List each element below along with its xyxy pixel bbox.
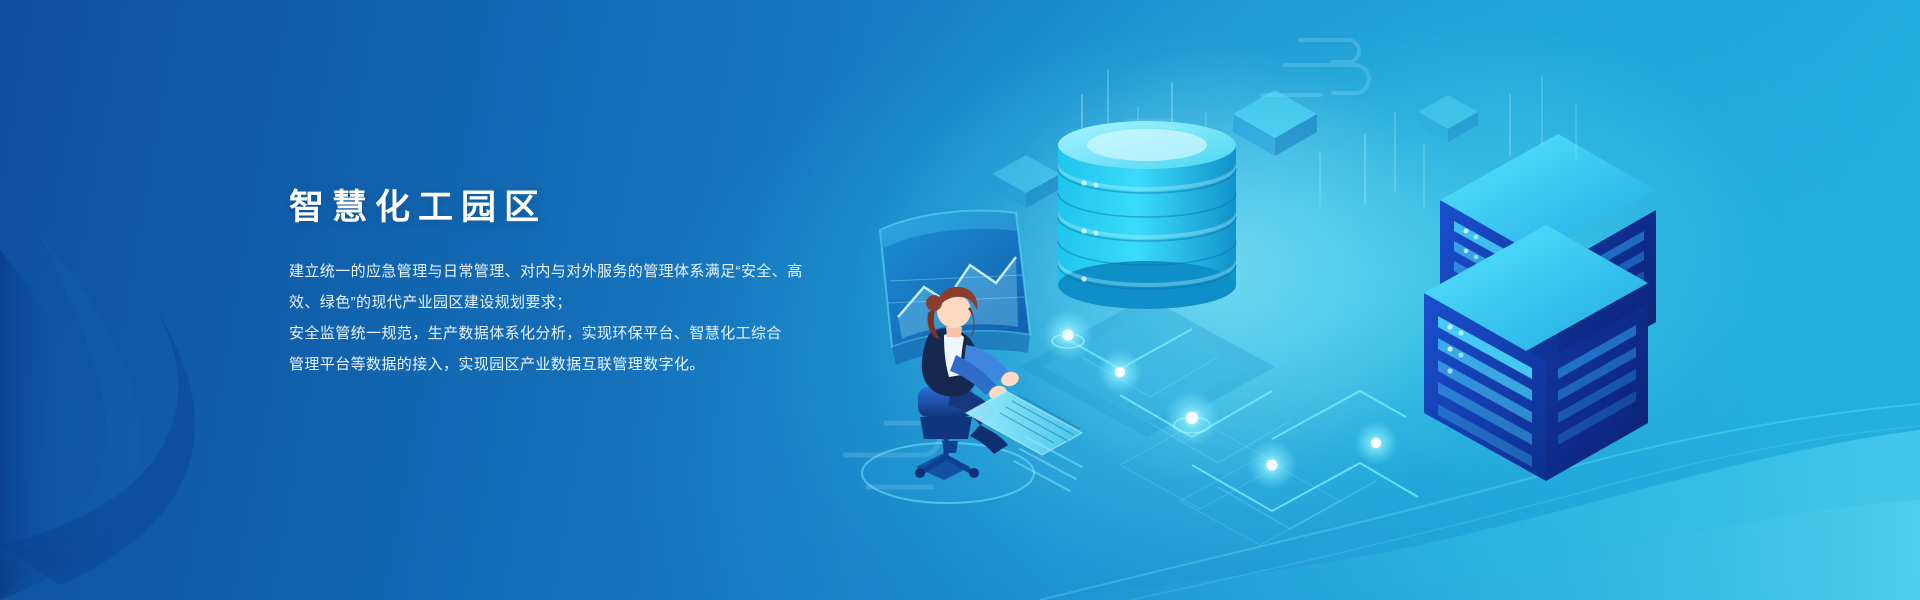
glow-node: [1097, 349, 1143, 395]
illustration-svg: [820, 35, 1890, 595]
glow-node: [1042, 309, 1094, 361]
wave-left-dark: [0, 250, 85, 600]
floating-cube: [1418, 95, 1478, 142]
glow-node: [1164, 390, 1220, 446]
hero-banner: 智慧化工园区 建立统一的应急管理与日常管理、对内与对外服务的管理体系满足“安全、…: [0, 0, 1920, 600]
wave-left-accent: [0, 300, 195, 585]
glow-node: [1247, 440, 1297, 490]
smart-park-illustration: [820, 35, 1890, 595]
wave-left-thin: [0, 235, 140, 600]
glow-node: [1354, 421, 1398, 465]
cylinder-server-tower: [1058, 121, 1236, 309]
